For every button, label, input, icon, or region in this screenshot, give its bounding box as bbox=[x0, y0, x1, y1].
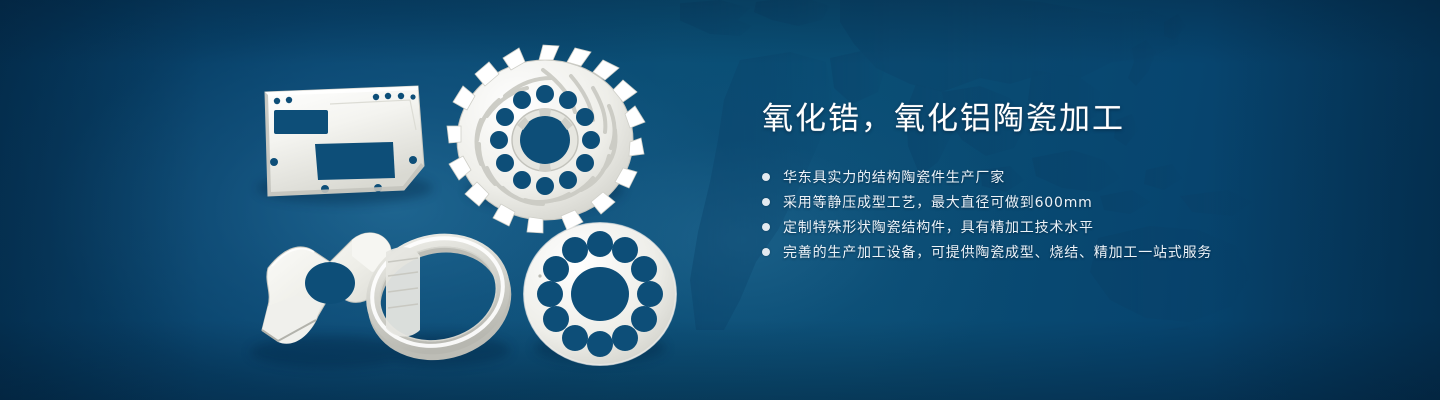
bullet-dot-icon bbox=[762, 173, 770, 181]
list-item: 华东具实力的结构陶瓷件生产厂家 bbox=[762, 164, 1342, 189]
ceramic-plate-with-cutouts bbox=[265, 86, 424, 196]
ceramic-perforated-disc bbox=[524, 223, 676, 365]
bullet-dot-icon bbox=[762, 248, 770, 256]
list-item: 定制特殊形状陶瓷结构件，具有精加工技术水平 bbox=[762, 214, 1342, 239]
list-item-label: 采用等静压成型工艺，最大直径可做到600mm bbox=[783, 192, 1093, 212]
feature-list: 华东具实力的结构陶瓷件生产厂家 采用等静压成型工艺，最大直径可做到600mm 定… bbox=[762, 164, 1342, 264]
bullet-dot-icon bbox=[762, 223, 770, 231]
list-item: 采用等静压成型工艺，最大直径可做到600mm bbox=[762, 189, 1342, 214]
list-item: 完善的生产加工设备，可提供陶瓷成型、烧结、精加工一站式服务 bbox=[762, 239, 1342, 264]
list-item-label: 定制特殊形状陶瓷结构件，具有精加工技术水平 bbox=[783, 217, 1094, 237]
banner: 氧化锆，氧化铝陶瓷加工 华东具实力的结构陶瓷件生产厂家 采用等静压成型工艺，最大… bbox=[0, 0, 1440, 400]
page-title: 氧化锆，氧化铝陶瓷加工 bbox=[762, 104, 1342, 135]
copy-block: 氧化锆，氧化铝陶瓷加工 华东具实力的结构陶瓷件生产厂家 采用等静压成型工艺，最大… bbox=[762, 104, 1342, 264]
ceramic-impeller-disc bbox=[447, 45, 645, 233]
ceramic-products-image bbox=[0, 0, 720, 400]
list-item-label: 华东具实力的结构陶瓷件生产厂家 bbox=[783, 167, 1005, 187]
bullet-dot-icon bbox=[762, 198, 770, 206]
list-item-label: 完善的生产加工设备，可提供陶瓷成型、烧结、精加工一站式服务 bbox=[783, 242, 1212, 262]
ceramic-ring-stack bbox=[386, 247, 420, 337]
